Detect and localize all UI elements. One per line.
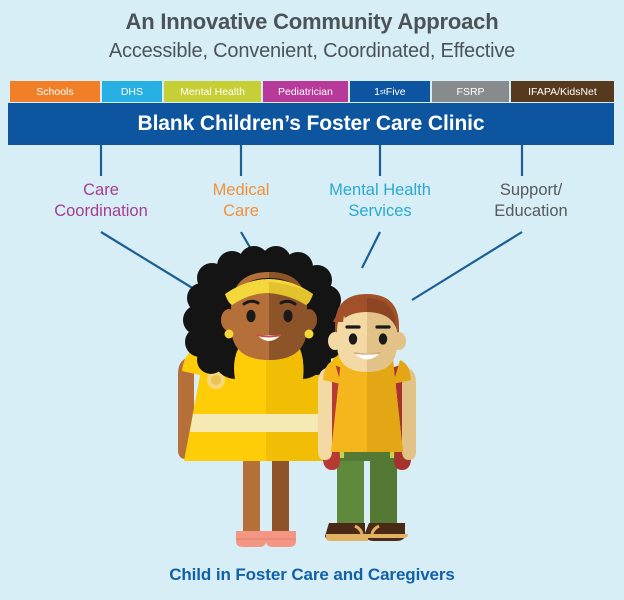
clinic-banner-label: Blank Children’s Foster Care Clinic (138, 112, 485, 136)
clinic-banner: Blank Children’s Foster Care Clinic (8, 103, 614, 145)
partner-tab-1st-five[interactable]: 1st Five (350, 81, 431, 102)
partner-tab-mental-health[interactable]: Mental Health (164, 81, 261, 102)
partner-tab-pediatrician[interactable]: Pediatrician (263, 81, 347, 102)
page-subtitle: Accessible, Convenient, Coordinated, Eff… (0, 38, 624, 65)
service-label-mental-health-services: Mental Health Services (306, 180, 454, 222)
partner-tabs-row: SchoolsDHSMental HealthPediatrician1st F… (10, 81, 614, 102)
service-label-support-education: Support/ Education (466, 180, 596, 222)
page-title: An Innovative Community Approach (0, 8, 624, 36)
partner-tab-dhs[interactable]: DHS (102, 81, 162, 102)
page-header: An Innovative Community Approach Accessi… (0, 0, 624, 65)
bottom-caption: Child in Foster Care and Caregivers (0, 565, 624, 585)
service-label-medical-care: Medical Care (186, 180, 296, 222)
partner-tab-schools[interactable]: Schools (10, 81, 100, 102)
child-in-foster-care-and-caregiver-illustration (0, 246, 624, 556)
partner-tab-fsrp[interactable]: FSRP (432, 81, 509, 102)
service-label-care-coordination: Care Coordination (26, 180, 176, 222)
partner-tab-ifapa-kidsnet[interactable]: IFAPA/KidsNet (511, 81, 614, 102)
